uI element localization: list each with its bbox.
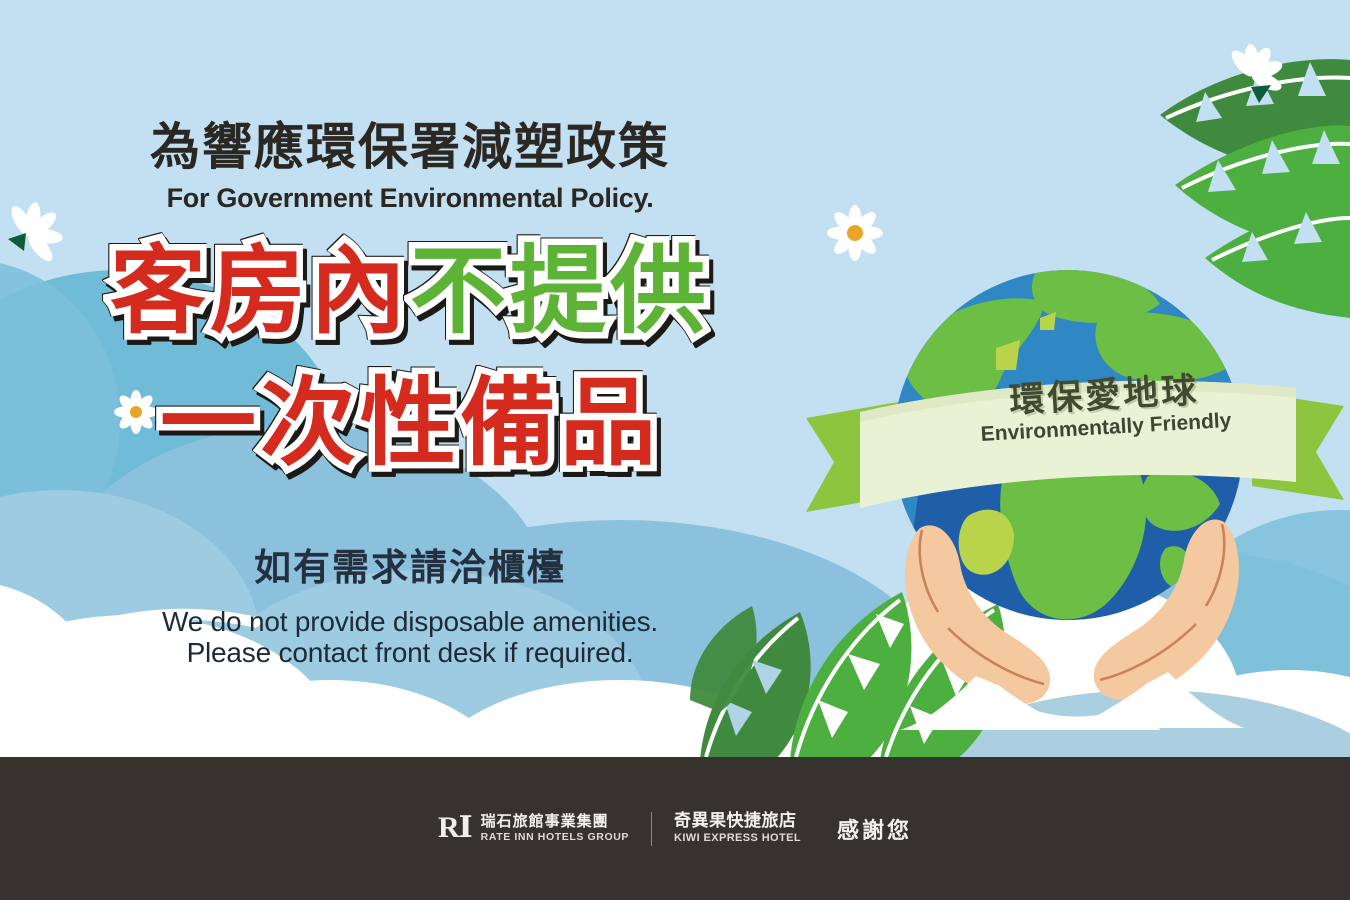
rate-inn-name-zh: 瑞石旅館事業集團 xyxy=(481,814,629,829)
kiwi-express-name-en: KIWI EXPRESS HOTEL xyxy=(674,833,801,844)
brand-rate-inn: RⅠ 瑞石旅館事業集團 RATE INN HOTELS GROUP xyxy=(438,814,629,844)
thank-you-text: 感謝您 xyxy=(837,813,912,845)
kiwi-express-text: 奇異果快捷旅店 KIWI EXPRESS HOTEL xyxy=(674,813,801,844)
rate-inn-text: 瑞石旅館事業集團 RATE INN HOTELS GROUP xyxy=(481,814,629,843)
brand-kiwi-express: 奇異果快捷旅店 KIWI EXPRESS HOTEL xyxy=(674,813,801,844)
rate-inn-name-en: RATE INN HOTELS GROUP xyxy=(481,832,629,843)
flower-center xyxy=(130,406,142,418)
flower-mid-left xyxy=(114,390,158,434)
kiwi-express-name-zh: 奇異果快捷旅店 xyxy=(674,813,801,830)
footer-brands: RⅠ 瑞石旅館事業集團 RATE INN HOTELS GROUP 奇異果快捷旅… xyxy=(438,812,912,846)
footer-divider xyxy=(651,812,652,846)
eco-notice-poster: 環保愛地球 Environmentally Friendly 為響應環保署減塑政… xyxy=(0,0,1350,900)
globe-illustration xyxy=(800,230,1350,730)
footer-bar: RⅠ 瑞石旅館事業集團 RATE INN HOTELS GROUP 奇異果快捷旅… xyxy=(0,757,1350,900)
rate-inn-logo-icon: RⅠ xyxy=(438,813,472,843)
